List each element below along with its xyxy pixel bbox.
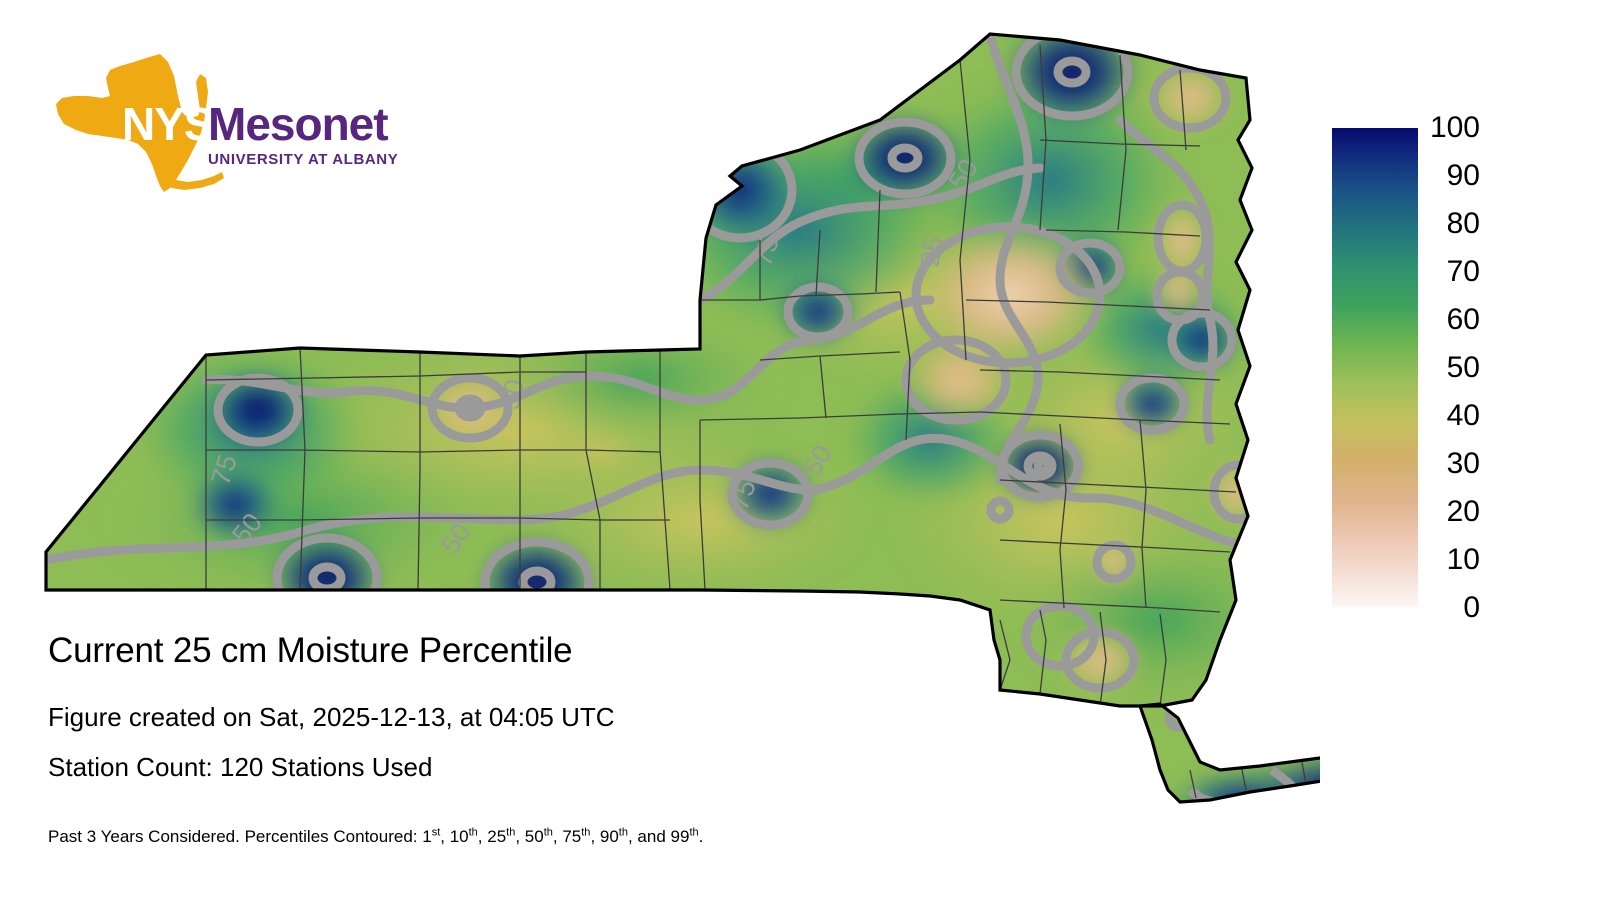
figure-root: 75 50 25 50 75 50 50 50 75 [0, 0, 1600, 900]
figure-created-line: Figure created on Sat, 2025-12-13, at 04… [48, 702, 615, 732]
colorbar-tick-10: 10 [1422, 545, 1480, 575]
contour-levels-footnote: Past 3 Years Considered. Percentiles Con… [48, 826, 703, 848]
colorbar-tick-80: 80 [1422, 209, 1480, 239]
colorbar [1332, 128, 1418, 607]
footnote-v5: , 75 [553, 827, 581, 846]
colorbar-tick-40: 40 [1422, 401, 1480, 431]
colorbar-tick-60: 60 [1422, 305, 1480, 335]
colorbar-tick-30: 30 [1422, 449, 1480, 479]
colorbar-tick-70: 70 [1422, 257, 1480, 287]
contour-label: 50 [495, 377, 531, 413]
colorbar-tick-labels: 100 90 80 70 60 50 40 30 20 10 0 [1420, 108, 1480, 628]
footnote-v7: , and 99 [628, 827, 689, 846]
colorbar-tick-50: 50 [1422, 353, 1480, 383]
logo-tagline-text: UNIVERSITY AT ALBANY [208, 151, 398, 168]
colorbar-tick-0: 0 [1422, 593, 1480, 623]
footnote-sup-7: th [689, 826, 698, 838]
footnote-v3: , 25 [478, 827, 506, 846]
footnote-sup-4: th [544, 826, 553, 838]
logo-nys-text: NYS [122, 98, 214, 150]
footnote-end: . [699, 827, 704, 846]
colorbar-tick-90: 90 [1422, 161, 1480, 191]
footnote-sup-6: th [619, 826, 628, 838]
figure-title: Current 25 cm Moisture Percentile [48, 631, 572, 671]
station-count-line: Station Count: 120 Stations Used [48, 752, 432, 782]
footnote-sup-3: th [506, 826, 515, 838]
colorbar-tick-20: 20 [1422, 497, 1480, 527]
logo-mesonet-text: Mesonet [208, 98, 388, 150]
footnote-sup-2: th [469, 826, 478, 838]
colorbar-gradient [1332, 128, 1418, 607]
colorbar-tick-100: 100 [1422, 113, 1480, 143]
footnote-v2: , 10 [440, 827, 468, 846]
footnote-v6: , 90 [590, 827, 618, 846]
footnote-v4: , 50 [515, 827, 543, 846]
footnote-lead: Past 3 Years Considered. Percentiles Con… [48, 827, 432, 846]
nys-mesonet-logo: NYS Mesonet UNIVERSITY AT ALBANY [48, 52, 400, 204]
contour-label: 25 [914, 234, 949, 269]
footnote-sup-1: st [432, 826, 441, 838]
